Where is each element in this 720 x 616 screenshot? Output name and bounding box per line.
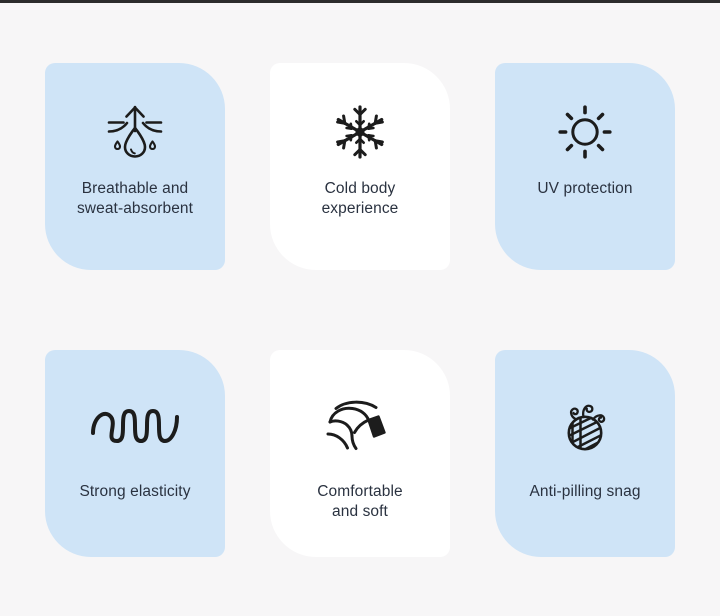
feature-card-label: Breathable and sweat-absorbent [49, 179, 221, 219]
snowflake-icon [329, 101, 391, 163]
feature-card-breathable[interactable]: Breathable and sweat-absorbent [45, 63, 225, 270]
feature-card-label: Strong elasticity [49, 482, 221, 502]
hand-fabric-icon [329, 394, 391, 456]
feature-card-elasticity[interactable]: Strong elasticity [45, 350, 225, 557]
feature-card-cold-body[interactable]: Cold body experience [270, 63, 450, 270]
feature-card-comfortable[interactable]: Comfortable and soft [270, 350, 450, 557]
feature-card-label: Anti-pilling snag [499, 482, 671, 502]
yarn-ball-icon [554, 394, 616, 456]
feature-card-uv-protection[interactable]: UV protection [495, 63, 675, 270]
feature-card-label: UV protection [499, 179, 671, 199]
feature-card-label: Comfortable and soft [274, 482, 446, 522]
feature-grid: Breathable and sweat-absorbent [0, 0, 720, 616]
feature-card-label: Cold body experience [274, 179, 446, 219]
sun-icon [554, 101, 616, 163]
feature-card-anti-pilling[interactable]: Anti-pilling snag [495, 350, 675, 557]
spring-coil-icon [104, 394, 166, 456]
breathable-sweat-icon [104, 101, 166, 163]
